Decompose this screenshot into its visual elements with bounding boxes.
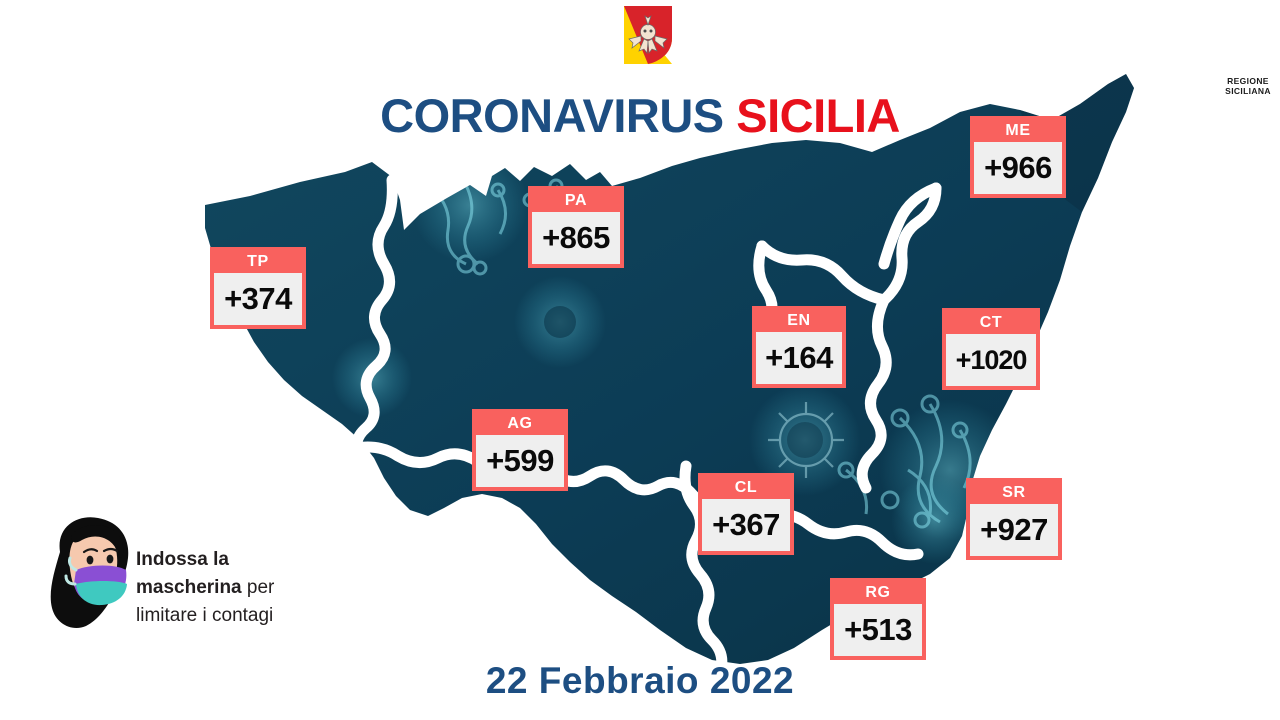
province-code-en: EN	[756, 310, 842, 332]
caption-line3: limitare i contagi	[136, 605, 273, 626]
province-badge-sr[interactable]: SR+927	[966, 478, 1062, 560]
trinacria-shield-icon	[622, 4, 674, 66]
page-title: CORONAVIRUS SICILIA	[0, 92, 1280, 139]
province-code-ag: AG	[476, 413, 564, 435]
province-badge-rg[interactable]: RG+513	[830, 578, 926, 660]
province-value-ct: +1020	[946, 334, 1036, 386]
province-code-cl: CL	[702, 477, 790, 499]
province-value-rg: +513	[834, 604, 922, 656]
province-badge-cl[interactable]: CL+367	[698, 473, 794, 555]
province-badge-ag[interactable]: AG+599	[472, 409, 568, 491]
province-code-pa: PA	[532, 190, 620, 212]
title-sicilia: SICILIA	[736, 89, 900, 142]
province-badge-ct[interactable]: CT+1020	[942, 308, 1040, 390]
province-value-me: +966	[974, 142, 1062, 194]
province-badge-pa[interactable]: PA+865	[528, 186, 624, 268]
province-code-rg: RG	[834, 582, 922, 604]
province-value-pa: +865	[532, 212, 620, 264]
province-value-ag: +599	[476, 435, 564, 487]
regione-siciliana-logo: REGIONE SICILIANA	[600, 4, 696, 82]
report-date: 22 Febbraio 2022	[0, 660, 1280, 702]
awareness-caption: Indossa la mascherina per limitare i con…	[136, 546, 396, 630]
province-code-ct: CT	[946, 312, 1036, 334]
infographic-root: REGIONE SICILIANA CORONAVIRUS SICILIA TP…	[0, 0, 1280, 720]
province-badge-tp[interactable]: TP+374	[210, 247, 306, 329]
province-value-en: +164	[756, 332, 842, 384]
caption-line2-bold: mascherina	[136, 577, 242, 598]
province-value-tp: +374	[214, 273, 302, 325]
caption-line2-light: per	[247, 577, 274, 598]
province-code-tp: TP	[214, 251, 302, 273]
title-coronavirus: CORONAVIRUS	[380, 89, 724, 142]
province-value-sr: +927	[970, 504, 1058, 556]
caption-line1: Indossa la	[136, 549, 229, 570]
province-value-cl: +367	[702, 499, 790, 551]
province-badge-me[interactable]: ME+966	[970, 116, 1066, 198]
province-code-me: ME	[974, 120, 1062, 142]
province-badge-en[interactable]: EN+164	[752, 306, 846, 388]
province-code-sr: SR	[970, 482, 1058, 504]
